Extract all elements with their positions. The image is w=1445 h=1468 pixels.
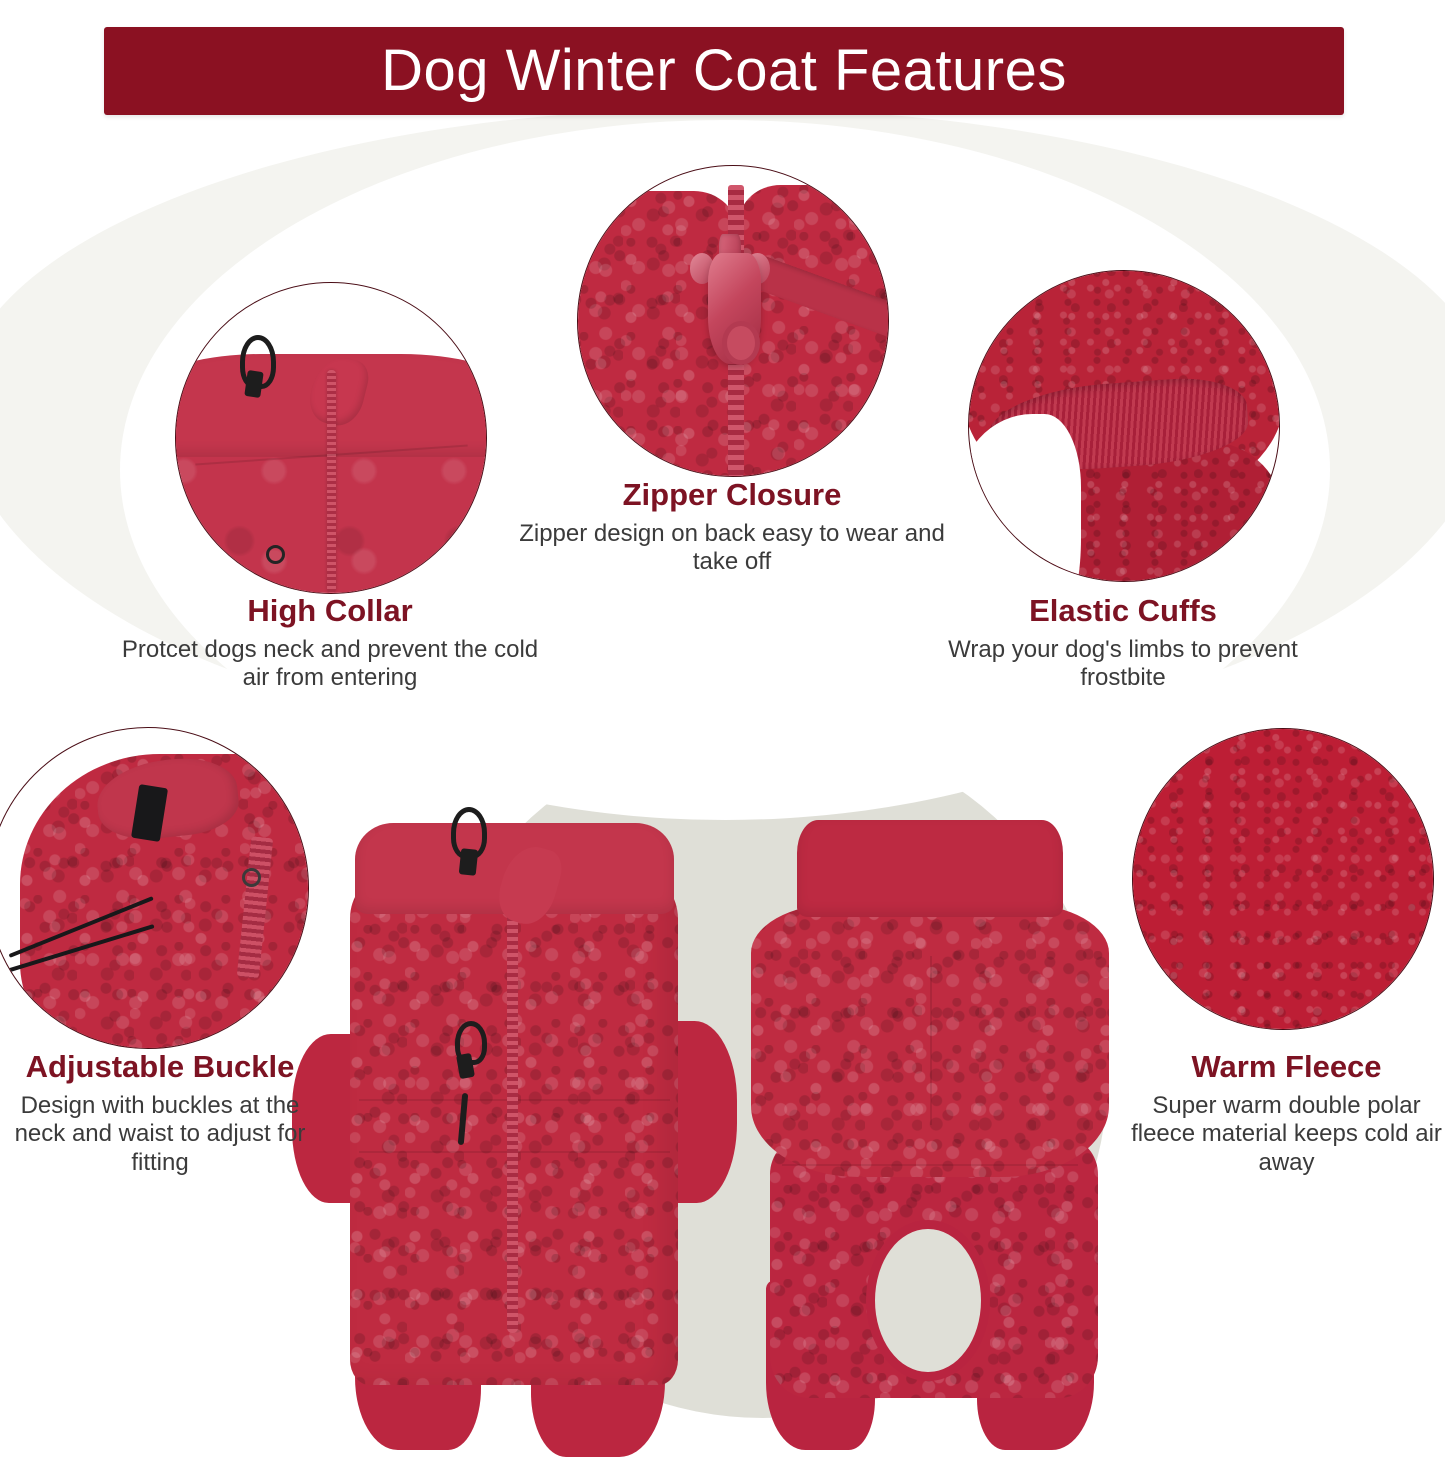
- feature-caption-adjustable-buckle: Adjustable Buckle Design with buckles at…: [0, 1050, 320, 1177]
- back-seam-center: [930, 956, 932, 1125]
- collar-zipper: [327, 370, 336, 593]
- front-zipper: [507, 865, 518, 1333]
- feature-title-warm-fleece: Warm Fleece: [1128, 1050, 1445, 1084]
- front-neck-cord-lock: [458, 848, 478, 876]
- elastic-cuff-photo: [969, 271, 1279, 581]
- product-back-view: [735, 800, 1125, 1450]
- adjustable-buckle-photo: [0, 728, 308, 1048]
- feature-title-adjustable-buckle: Adjustable Buckle: [0, 1050, 320, 1084]
- warm-fleece-photo: [1133, 729, 1433, 1029]
- feature-caption-warm-fleece: Warm Fleece Super warm double polar flee…: [1128, 1050, 1445, 1177]
- feature-image-high-collar: [175, 282, 487, 594]
- page-title: Dog Winter Coat Features: [381, 42, 1067, 100]
- zipper-pull-hole: [722, 321, 760, 365]
- feature-desc-adjustable-buckle: Design with buckles at the neck and wais…: [0, 1092, 320, 1177]
- cuff-opening: [969, 414, 1081, 581]
- infographic-page: Dog Winter Coat Features High Collar Pro…: [0, 0, 1445, 1468]
- feature-caption-zipper-closure: Zipper Closure Zipper design on back eas…: [512, 478, 952, 577]
- back-leg-opening: [875, 1229, 980, 1372]
- feature-image-warm-fleece: [1132, 728, 1434, 1030]
- zipper-photo: [578, 166, 888, 476]
- buckle-grommet: [242, 868, 261, 887]
- feature-title-elastic-cuffs: Elastic Cuffs: [918, 594, 1328, 628]
- feature-desc-elastic-cuffs: Wrap your dog's limbs to prevent frostbi…: [918, 636, 1328, 693]
- fleece-texture-swatch: [1133, 729, 1433, 1029]
- product-front-view: [300, 800, 720, 1450]
- feature-caption-high-collar: High Collar Protcet dogs neck and preven…: [110, 594, 550, 693]
- collar-grommet: [266, 545, 285, 564]
- back-seam-waist: [782, 1164, 1078, 1166]
- back-collar: [797, 820, 1062, 918]
- feature-caption-elastic-cuffs: Elastic Cuffs Wrap your dog's limbs to p…: [918, 594, 1328, 693]
- high-collar-photo: [176, 283, 486, 593]
- zipper-fabric-right: [739, 185, 888, 476]
- feature-title-high-collar: High Collar: [110, 594, 550, 628]
- feature-image-adjustable-buckle: [0, 727, 309, 1049]
- feature-desc-warm-fleece: Super warm double polar fleece material …: [1128, 1092, 1445, 1177]
- feature-desc-zipper-closure: Zipper design on back easy to wear and t…: [512, 520, 952, 577]
- page-title-banner: Dog Winter Coat Features: [104, 27, 1344, 115]
- feature-image-zipper-closure: [577, 165, 889, 477]
- feature-desc-high-collar: Protcet dogs neck and prevent the cold a…: [110, 636, 550, 693]
- feature-title-zipper-closure: Zipper Closure: [512, 478, 952, 512]
- feature-image-elastic-cuffs: [968, 270, 1280, 582]
